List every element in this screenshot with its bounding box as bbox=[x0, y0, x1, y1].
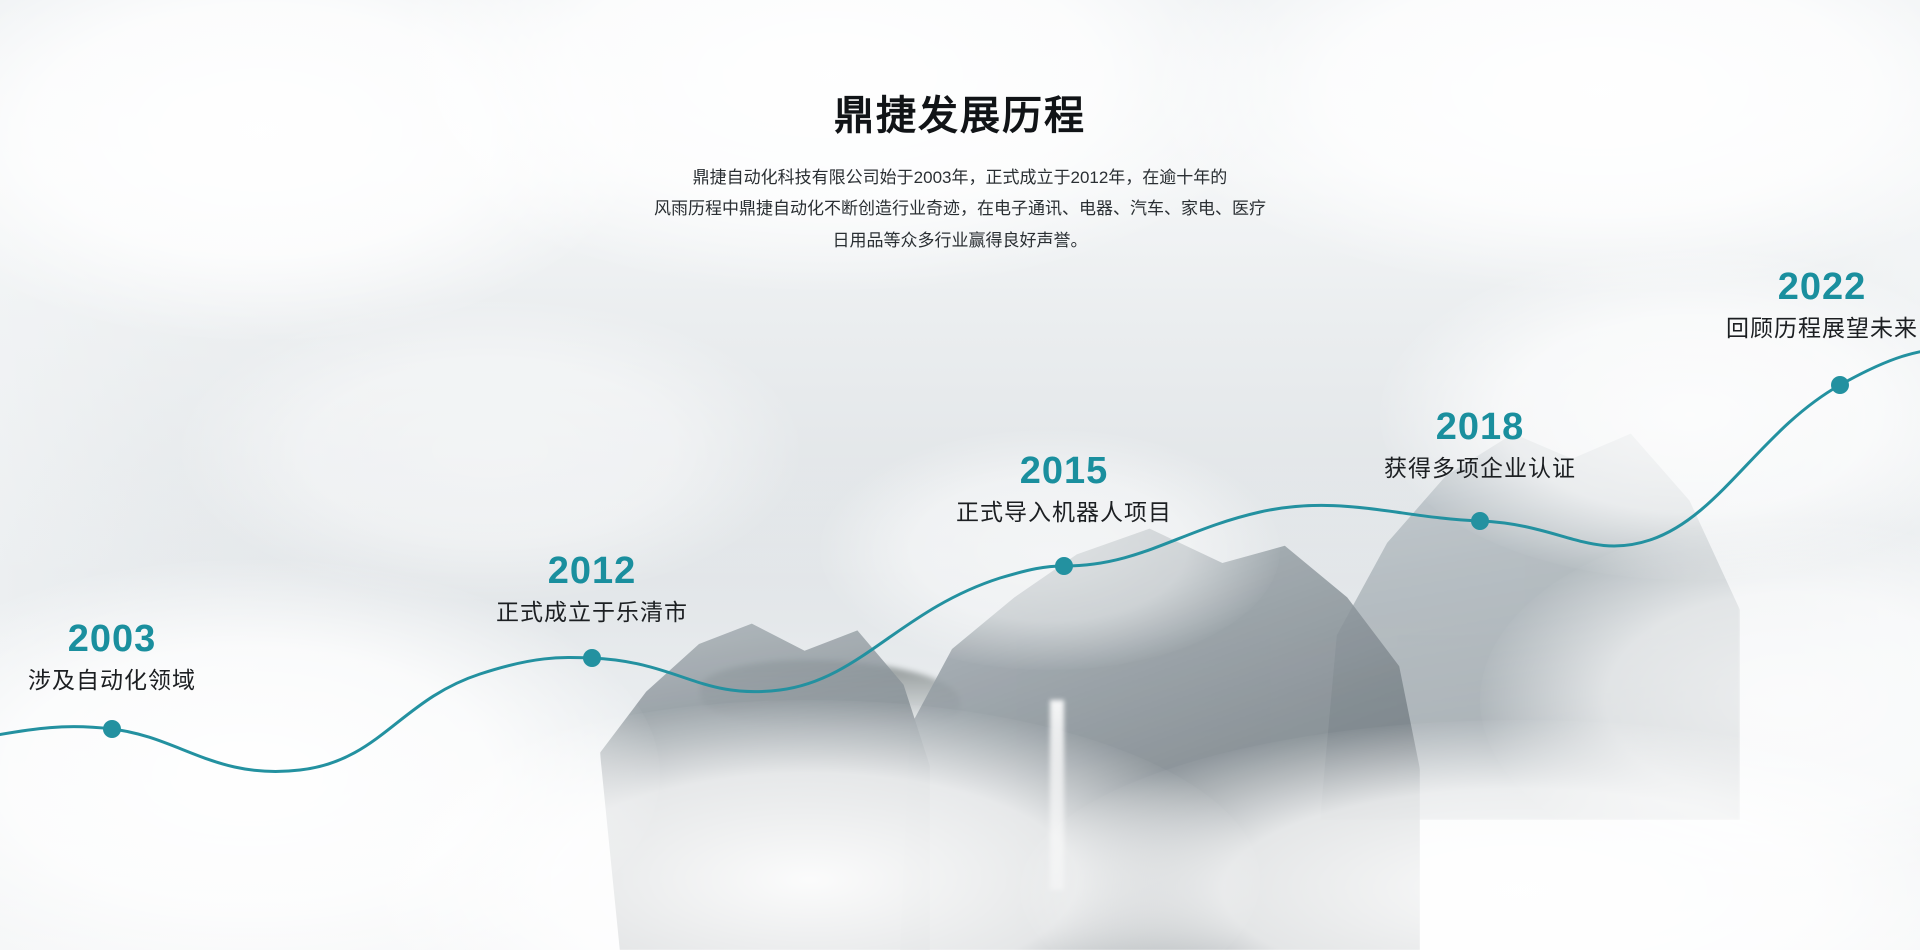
timeline-node-2003[interactable] bbox=[103, 720, 121, 738]
milestone-description: 正式导入机器人项目 bbox=[956, 498, 1172, 527]
milestone-year-label: 2012 bbox=[496, 552, 688, 592]
timeline-node-2015[interactable] bbox=[1055, 557, 1073, 575]
milestone-description: 正式成立于乐清市 bbox=[496, 598, 688, 627]
milestone-description: 涉及自动化领域 bbox=[28, 666, 196, 695]
milestone-year-label: 2022 bbox=[1726, 268, 1918, 308]
milestone-2018[interactable]: 2018获得多项企业认证 bbox=[1384, 408, 1576, 483]
timeline-node-group bbox=[103, 376, 1849, 738]
milestone-year-label: 2018 bbox=[1384, 408, 1576, 448]
intro-line: 风雨历程中鼎捷自动化不断创造行业奇迹，在电子通讯、电器、汽车、家电、医疗 bbox=[0, 193, 1920, 224]
milestone-description: 回顾历程展望未来 bbox=[1726, 314, 1918, 343]
timeline-page: 鼎捷发展历程 鼎捷自动化科技有限公司始于2003年，正式成立于2012年，在逾十… bbox=[0, 0, 1920, 950]
milestone-2015[interactable]: 2015正式导入机器人项目 bbox=[956, 452, 1172, 527]
timeline-node-2018[interactable] bbox=[1471, 512, 1489, 530]
milestone-year-label: 2003 bbox=[28, 620, 196, 660]
page-title: 鼎捷发展历程 bbox=[0, 92, 1920, 140]
milestone-2003[interactable]: 2003涉及自动化领域 bbox=[28, 620, 196, 695]
timeline-curve-line bbox=[0, 346, 1920, 771]
timeline-node-2022[interactable] bbox=[1831, 376, 1849, 394]
intro-line: 日用品等众多行业赢得良好声誉。 bbox=[0, 225, 1920, 256]
milestone-2022[interactable]: 2022回顾历程展望未来 bbox=[1726, 268, 1918, 343]
milestone-2012[interactable]: 2012正式成立于乐清市 bbox=[496, 552, 688, 627]
company-intro-paragraph: 鼎捷自动化科技有限公司始于2003年，正式成立于2012年，在逾十年的 风雨历程… bbox=[0, 162, 1920, 256]
header-block: 鼎捷发展历程 鼎捷自动化科技有限公司始于2003年，正式成立于2012年，在逾十… bbox=[0, 92, 1920, 256]
milestone-description: 获得多项企业认证 bbox=[1384, 454, 1576, 483]
timeline-node-2012[interactable] bbox=[583, 649, 601, 667]
intro-line: 鼎捷自动化科技有限公司始于2003年，正式成立于2012年，在逾十年的 bbox=[0, 162, 1920, 193]
milestone-year-label: 2015 bbox=[956, 452, 1172, 492]
